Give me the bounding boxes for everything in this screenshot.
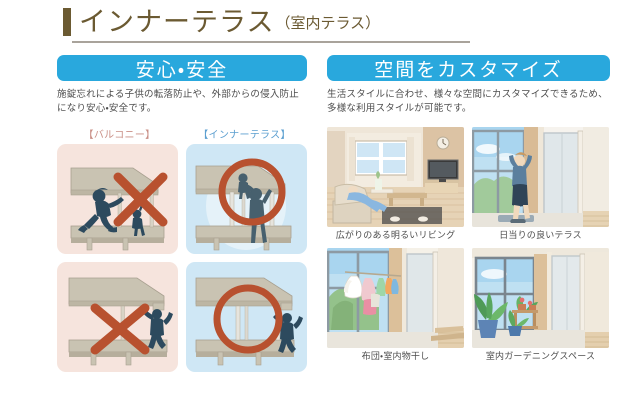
customize-section: 空間をカスタマイズ 生活スタイルに合わせ、様々な空間にカスタマイズできるため、多… — [327, 55, 610, 363]
photo-indoor-laundry — [327, 248, 464, 348]
label-balcony: 【バルコニー】 — [57, 126, 182, 141]
photo-living-room — [327, 127, 464, 227]
photo-cell-sunny-terrace: 日当りの良いテラス — [472, 127, 609, 242]
photo-cell-indoor-laundry: 布団・室内物干し — [327, 248, 464, 363]
customize-banner: 空間をカスタマイズ — [327, 55, 610, 81]
photo-cell-indoor-gardening: 室内ガーデニングスペース — [472, 248, 609, 363]
panel-terrace-fall-safe — [186, 144, 307, 254]
photo-sunny-terrace — [472, 127, 609, 227]
safety-description: 施錠忘れによる子供の転落防止や、外部からの侵入防止になり安心・安全です。 — [57, 88, 307, 116]
safety-section: 安心・安全 施錠忘れによる子供の転落防止や、外部からの侵入防止になり安心・安全で… — [57, 55, 307, 372]
photo-cell-living-room: 広がりのある明るいリビング — [327, 127, 464, 242]
caption-indoor-laundry: 布団・室内物干し — [327, 351, 464, 363]
caption-indoor-gardening: 室内ガーデニングスペース — [472, 351, 609, 363]
page-title-main: インナーテラス — [79, 8, 274, 38]
label-inner-terrace: 【インナーテラス】 — [182, 126, 307, 141]
panel-balcony-intruder-risk — [57, 262, 178, 372]
caption-living-room: 広がりのある明るいリビング — [327, 230, 464, 242]
page-title-sub: （室内テラス） — [275, 8, 380, 38]
title-accent-bar — [63, 8, 71, 36]
photo-grid: 広がりのある明るいリビング — [327, 127, 610, 363]
comparison-grid — [57, 144, 307, 372]
panel-balcony-fall-risk — [57, 144, 178, 254]
safety-banner: 安心・安全 — [57, 55, 307, 81]
page-title: インナーテラス （室内テラス） — [63, 8, 380, 38]
caption-sunny-terrace: 日当りの良いテラス — [472, 230, 609, 242]
photo-indoor-gardening — [472, 248, 609, 348]
panel-terrace-intruder-safe — [186, 262, 307, 372]
title-divider — [72, 41, 470, 43]
customize-description: 生活スタイルに合わせ、様々な空間にカスタマイズできるため、多様な利用スタイルが可… — [327, 88, 610, 116]
comparison-labels: 【バルコニー】 【インナーテラス】 — [57, 126, 307, 141]
